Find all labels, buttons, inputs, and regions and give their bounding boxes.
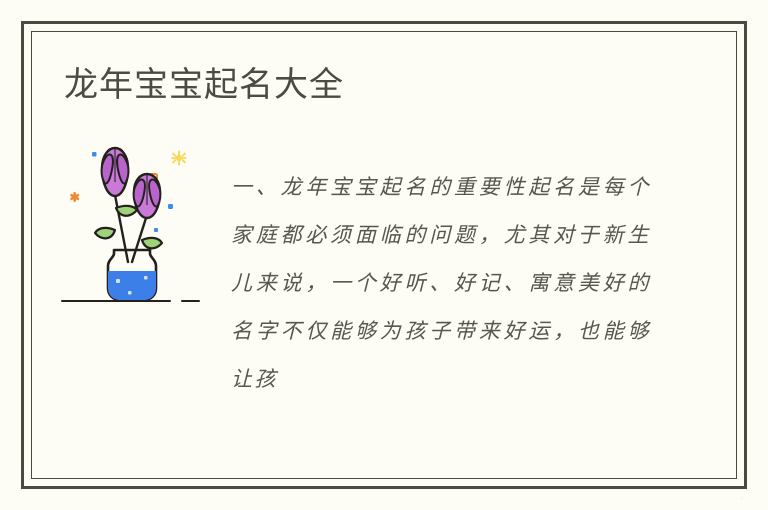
sparkle-star-icon	[172, 151, 187, 166]
corner-watermark: 。	[740, 489, 750, 502]
article-body-text: 一、龙年宝宝起名的重要性起名是每个家庭都必须面临的问题，尤其对于新生儿来说，一个…	[231, 163, 651, 403]
vase-water	[108, 271, 156, 300]
sparkle-burst-icon	[70, 192, 80, 202]
water-bubble	[116, 279, 120, 283]
leaf	[95, 228, 115, 238]
tulip-flower	[102, 148, 129, 196]
sparkle-dot-icon	[154, 228, 158, 232]
water-bubble	[144, 276, 148, 280]
sparkle-dot-icon	[92, 152, 97, 157]
sparkle-dot-icon	[168, 204, 173, 209]
leaf	[142, 238, 162, 248]
page-title: 龙年宝宝起名大全	[64, 62, 344, 108]
leaf	[116, 206, 137, 216]
tulips-in-vase-illustration	[58, 140, 223, 312]
tulip-flower	[134, 174, 161, 218]
water-bubble	[128, 291, 132, 295]
article-page: 龙年宝宝起名大全	[0, 0, 768, 510]
